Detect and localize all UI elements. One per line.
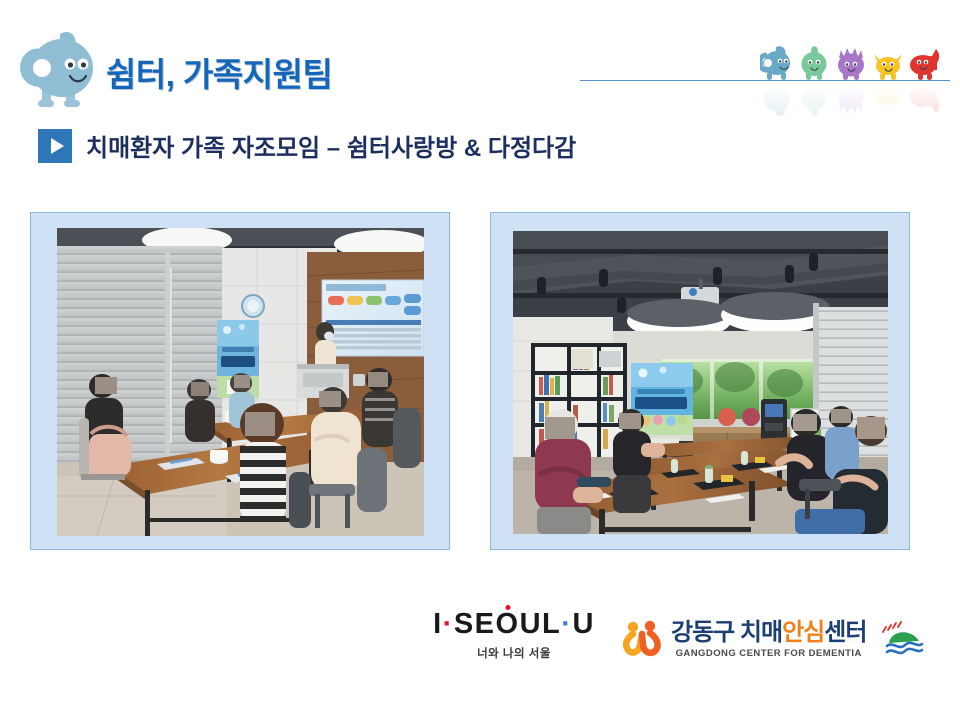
photo-frame-right	[490, 212, 910, 550]
slide-header: 쉼터, 가족지원팀	[0, 0, 960, 112]
blue-blob-mascot-icon	[20, 26, 102, 110]
mini-mascot-row-reflection	[760, 83, 950, 117]
seoul-dot-red: ·	[443, 608, 454, 640]
i-seoul-u-tagline: 너와 나의 서울	[424, 645, 604, 661]
gd-title-center: 센터	[824, 619, 866, 646]
i-seoul-u-logo: I·SEOUL·U 너와 나의 서울	[424, 610, 604, 661]
subtitle-row: 치매환자 가족 자조모임 – 쉼터사랑방 & 다정다감	[38, 128, 576, 163]
mini-mascot-blue-reflection	[760, 80, 794, 117]
gd-title-ansim: 안심	[782, 619, 824, 646]
footer-logos: I·SEOUL·U 너와 나의 서울 강동구 치매안심센터 GANGDONG C…	[0, 602, 960, 674]
photo-frame-left	[30, 212, 450, 550]
page-title: 쉼터, 가족지원팀	[106, 48, 332, 96]
slide-root: 쉼터, 가족지원팀	[0, 0, 960, 720]
photo-meeting-room	[513, 231, 888, 534]
seoul-dot-blue: ·	[561, 608, 572, 640]
mini-mascot-red	[908, 45, 942, 82]
mini-mascot-green-reflection	[797, 80, 831, 117]
mini-mascot-yellow-reflection	[871, 80, 905, 117]
gd-title-gangdong: 강동구	[671, 619, 740, 646]
seoul-letter-o: O	[496, 608, 520, 640]
seoul-letter-u: U	[572, 608, 594, 640]
gangdong-logo-subtitle: GANGDONG CENTER FOR DEMENTIA	[671, 649, 866, 659]
gangdong-center-for-dementia-logo: 강동구 치매안심센터 GANGDONG CENTER FOR DEMENTIA	[620, 612, 940, 668]
seoul-letters-ul: UL	[520, 608, 562, 640]
two-people-infinity-icon	[620, 620, 664, 660]
mini-mascot-yellow	[871, 45, 905, 82]
gangdong-logo-text: 강동구 치매안심센터 GANGDONG CENTER FOR DEMENTIA	[671, 621, 866, 659]
mini-mascot-blue	[760, 45, 794, 82]
gangdong-logo-title: 강동구 치매안심센터	[671, 621, 866, 645]
gangdong-gu-emblem-icon	[877, 621, 929, 659]
photo-seminar-room	[57, 228, 424, 536]
gd-title-chimae: 치매	[740, 619, 782, 646]
mini-mascot-green	[797, 45, 831, 82]
seoul-o-accent-dot	[505, 605, 510, 610]
mini-mascot-row	[760, 42, 950, 82]
i-seoul-u-wordmark: I·SEOUL·U	[424, 610, 604, 639]
mini-mascot-red-reflection	[908, 80, 942, 117]
play-triangle-icon	[38, 129, 72, 163]
mini-mascot-purple	[834, 45, 868, 82]
seoul-letters-se: SE	[454, 608, 496, 640]
mini-mascot-purple-reflection	[834, 80, 868, 117]
seoul-letter-i: I	[433, 608, 443, 640]
subtitle-text: 치매환자 가족 자조모임 – 쉼터사랑방 & 다정다감	[86, 128, 576, 163]
